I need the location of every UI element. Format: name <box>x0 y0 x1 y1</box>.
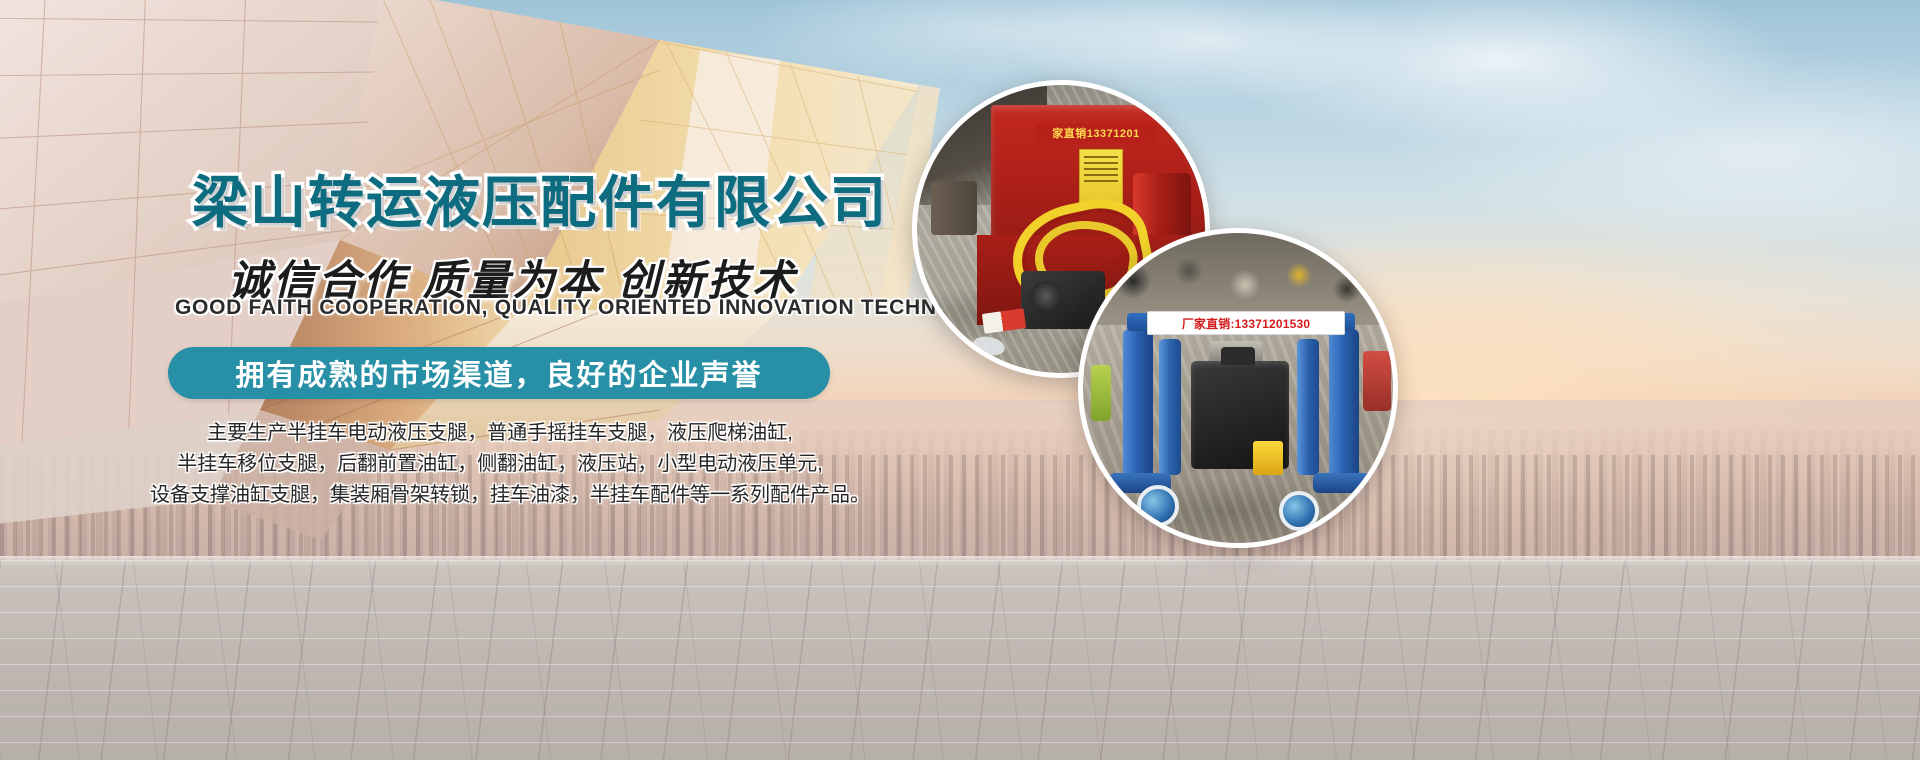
blue-machine-post-left <box>1123 329 1153 479</box>
highlight-ribbon-text: 拥有成熟的市场渠道，良好的企业声誉 <box>168 347 830 399</box>
text-content-block: 梁山转运液压配件有限公司 梁山转运液压配件有限公司 诚信合作 质量为本 创新技术… <box>0 0 980 760</box>
blue-hydraulic-leg-photo: 厂家直销:13371201530 <box>1078 228 1398 548</box>
red-photo-barrel <box>931 181 977 235</box>
red-machine-warning-label <box>1079 149 1123 205</box>
page-title: 梁山转运液压配件有限公司 <box>192 158 888 239</box>
blue-machine-foot-right <box>1313 473 1375 493</box>
product-description: 主要生产半挂车电动液压支腿，普通手摇挂车支腿，液压爬梯油缸, 半挂车移位支腿，后… <box>150 418 850 511</box>
red-machine-sign: 家直销13371201 <box>1035 123 1157 143</box>
blue-machine-phone-sign: 厂家直销:13371201530 <box>1147 311 1345 335</box>
blue-photo-background-clutter <box>1093 241 1383 319</box>
description-line-2: 半挂车移位支腿，后翻前置油缸，侧翻油缸，液压站，小型电动液压单元, <box>150 449 850 480</box>
blue-machine-yellow-part <box>1253 441 1283 475</box>
blue-photo-inner: 厂家直销:13371201530 <box>1083 233 1393 543</box>
hero-banner: 梁山转运液压配件有限公司 梁山转运液压配件有限公司 诚信合作 质量为本 创新技术… <box>0 0 1920 760</box>
blue-photo-red-object <box>1363 351 1391 411</box>
description-line-1: 主要生产半挂车电动液压支腿，普通手摇挂车支腿，液压爬梯油缸, <box>150 418 850 449</box>
blue-machine-post-left-inner <box>1159 339 1181 475</box>
blue-machine-post-right <box>1329 329 1359 479</box>
slogan-english: GOOD FAITH COOPERATION, QUALITY ORIENTED… <box>175 296 1016 320</box>
blue-photo-green-object <box>1091 365 1111 421</box>
blue-machine-post-right-inner <box>1297 339 1319 475</box>
blue-machine-caster-right <box>1279 491 1319 531</box>
blue-machine-caster-left <box>1137 485 1179 527</box>
highlight-ribbon: 拥有成熟的市场渠道，良好的企业声誉 <box>168 347 830 399</box>
description-line-3: 设备支撑油缸支腿，集装厢骨架转锁，挂车油漆，半挂车配件等一系列配件产品。 <box>150 480 850 511</box>
